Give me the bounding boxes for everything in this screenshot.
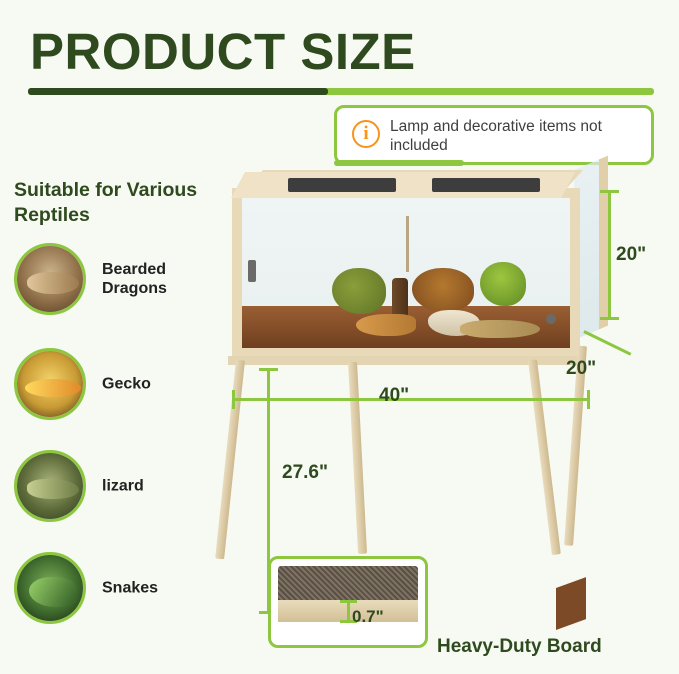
lizard-figure [356, 314, 416, 336]
page-title: PRODUCT SIZE [30, 22, 416, 81]
stand-leg [348, 362, 367, 554]
list-item: Snakes [14, 552, 229, 624]
plant-decor [480, 262, 526, 306]
door-hinge [406, 216, 409, 272]
bearded-dragon-photo [14, 243, 86, 315]
title-divider-dark [28, 88, 328, 95]
list-item: lizard [14, 450, 229, 522]
info-icon: i [352, 120, 380, 148]
width-dimension-cap-left [232, 390, 235, 409]
width-dimension-cap-right [587, 390, 590, 409]
note-underline-accent [334, 160, 464, 166]
list-item-label: Gecko [102, 375, 222, 394]
mesh-lid-left [288, 178, 396, 192]
depth-dimension-label: 20" [566, 358, 596, 380]
board-caption: Heavy-Duty Board [437, 636, 602, 658]
list-item: Bearded Dragons [14, 243, 229, 315]
door-handle [248, 260, 256, 282]
plant-decor [332, 268, 386, 314]
height-dimension-line [608, 190, 611, 320]
stand-height-dimension-cap-top [259, 368, 278, 371]
mesh-lid-right [432, 178, 540, 192]
height-dimension-label: 20" [616, 244, 646, 266]
board-thickness-line [347, 601, 350, 622]
list-item-label: Bearded Dragons [102, 260, 222, 298]
tank-body [232, 188, 580, 358]
list-item-label: Snakes [102, 579, 222, 598]
list-item-label: lizard [102, 477, 222, 496]
stand-height-dimension-label: 27.6" [282, 462, 328, 484]
stand-leg [215, 360, 245, 560]
suitable-reptiles-heading: Suitable for Various Reptiles [14, 178, 229, 228]
latch-knob [546, 314, 556, 324]
height-dimension-cap-top [600, 190, 619, 193]
substrate-side [556, 577, 586, 630]
rock-decor [412, 268, 474, 312]
snake-photo [14, 552, 86, 624]
height-dimension-cap-bottom [600, 317, 619, 320]
note-text: Lamp and decorative items not included [390, 117, 648, 155]
gecko-photo [14, 348, 86, 420]
board-mesh-surface [278, 566, 418, 600]
board-thickness-cap-top [340, 600, 357, 603]
stand-leg [528, 359, 561, 555]
lizard-figure [460, 320, 540, 338]
width-dimension-line [232, 398, 590, 401]
width-dimension-label: 40" [379, 385, 409, 407]
board-thickness-label: 0.7" [352, 607, 384, 627]
lizard-photo [14, 450, 86, 522]
list-item: Gecko [14, 348, 229, 420]
product-size-infographic: PRODUCT SIZE i Lamp and decorative items… [0, 0, 679, 674]
